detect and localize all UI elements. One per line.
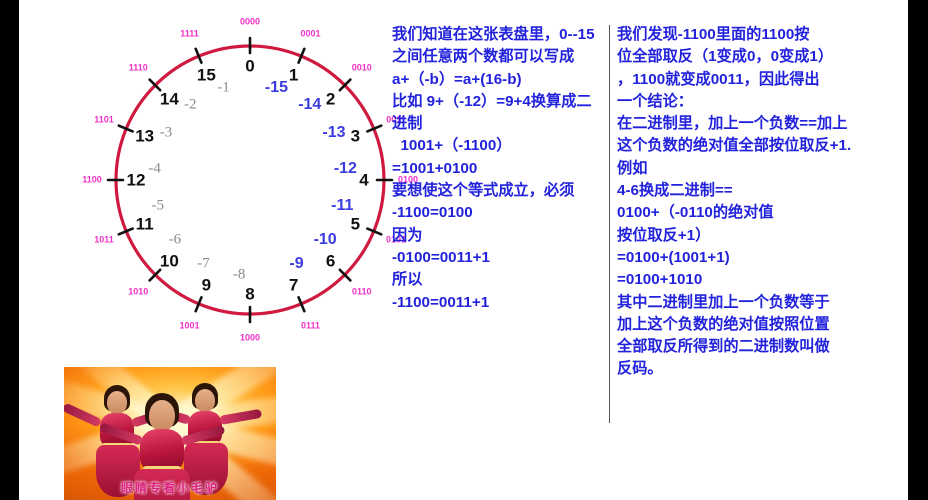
clock-positive-label: 10 xyxy=(160,252,179,269)
clock-binary-label: 0000 xyxy=(240,18,260,27)
text-line: 其中二进制里加上一个负数等于 xyxy=(617,292,862,314)
text-line: =1001+0100 xyxy=(392,158,610,180)
clock-negative-label: -15 xyxy=(265,80,288,96)
clock-positive-label: 1 xyxy=(289,66,298,83)
text-line: 例如 xyxy=(617,158,862,180)
text-line: 位全部取反（1变成0，0变成1） xyxy=(617,46,862,68)
text-line: 0100+（-0110的绝对值 xyxy=(617,202,862,224)
text-line: ，1100就变成0011，因此得出 xyxy=(617,69,862,91)
clock-positive-label: 7 xyxy=(289,277,298,294)
text-line: 所以 xyxy=(392,269,610,291)
text-line: -0100=0011+1 xyxy=(392,247,610,269)
clock-binary-label: 1110 xyxy=(129,64,148,73)
clock-negative-label: -13 xyxy=(322,125,345,141)
text-line: 一个结论： xyxy=(617,91,862,113)
explanation-column-right: 我们发现-1100里面的1100按位全部取反（1变成0，0变成1），1100就变… xyxy=(617,24,862,381)
tick-marks xyxy=(108,38,392,322)
clock-negative-label: -10 xyxy=(314,232,337,248)
text-line: 1001+（-1100） xyxy=(392,135,610,157)
clock-negative-label: -8 xyxy=(233,268,246,283)
clock-positive-label: 3 xyxy=(351,128,360,145)
text-line: 按位取反+1） xyxy=(617,225,862,247)
text-line: a+（-b）=a+(16-b) xyxy=(392,69,610,91)
presenter-video-thumbnail[interactable]: 眼睛专看小毛驴 xyxy=(64,367,276,500)
clock-positive-label: 11 xyxy=(136,215,154,232)
text-line: 进制 xyxy=(392,113,610,135)
text-line: 比如 9+（-12）=9+4换算成二 xyxy=(392,91,610,113)
text-line: =0100+1010 xyxy=(617,269,862,291)
clock-binary-label: 0001 xyxy=(300,30,320,39)
binary-clock-diagram: 000001-1500012-1400103-1300114-1201005-1… xyxy=(79,20,399,340)
clock-negative-label: -1 xyxy=(217,80,230,95)
clock-positive-label: 6 xyxy=(326,252,335,269)
text-line: 这个负数的绝对值全部按位取反+1. xyxy=(617,135,862,157)
text-line: 全部取反所得到的二进制数叫做 xyxy=(617,336,862,358)
clock-negative-label: -14 xyxy=(298,97,321,113)
text-line: -1100=0011+1 xyxy=(392,292,610,314)
clock-positive-label: 9 xyxy=(202,277,211,294)
explanation-column-left: 我们知道在这张表盘里，0--15之间任意两个数都可以写成a+（-b）=a+(16… xyxy=(392,24,610,314)
video-subtitle: 眼睛专看小毛驴 xyxy=(64,479,276,496)
text-line: 之间任意两个数都可以写成 xyxy=(392,46,610,68)
clock-negative-label: -9 xyxy=(289,256,303,272)
clock-negative-label: -6 xyxy=(169,232,182,247)
clock-positive-label: 8 xyxy=(245,286,254,303)
column-divider xyxy=(609,25,610,423)
clock-binary-label: 0010 xyxy=(352,64,372,73)
clock-positive-label: 15 xyxy=(197,66,216,83)
clock-binary-label: 0111 xyxy=(301,321,320,330)
clock-negative-label: -7 xyxy=(197,256,210,271)
clock-binary-label: 1111 xyxy=(180,30,199,39)
text-line: 加上这个负数的绝对值按照位置 xyxy=(617,314,862,336)
text-line: 我们知道在这张表盘里，0--15 xyxy=(392,24,610,46)
clock-negative-label: -2 xyxy=(184,97,197,112)
clock-binary-label: 1011 xyxy=(94,236,114,245)
clock-binary-label: 1001 xyxy=(180,321,200,330)
clock-binary-label: 0110 xyxy=(352,287,372,296)
slide-canvas: 000001-1500012-1400103-1300114-1201005-1… xyxy=(19,0,908,500)
text-line: =0100+(1001+1) xyxy=(617,247,862,269)
clock-positive-label: 0 xyxy=(245,58,254,75)
clock-binary-label: 1101 xyxy=(94,115,114,124)
clock-negative-label: -3 xyxy=(160,126,173,141)
clock-binary-label: 1010 xyxy=(128,287,148,296)
clock-negative-label: -12 xyxy=(334,161,357,177)
text-line: 因为 xyxy=(392,225,610,247)
clock-positive-label: 5 xyxy=(351,215,360,232)
text-line: -1100=0100 xyxy=(392,202,610,224)
text-line: 在二进制里，加上一个负数==加上 xyxy=(617,113,862,135)
clock-negative-label: -4 xyxy=(148,162,161,177)
clock-positive-label: 14 xyxy=(160,91,179,108)
clock-binary-label: 1100 xyxy=(82,176,102,185)
text-line: 4-6换成二进制== xyxy=(617,180,862,202)
clock-positive-label: 4 xyxy=(359,172,368,189)
clock-binary-label: 1000 xyxy=(240,334,260,343)
clock-positive-label: 13 xyxy=(135,128,154,145)
clock-negative-label: -5 xyxy=(151,199,164,214)
text-line: 我们发现-1100里面的1100按 xyxy=(617,24,862,46)
text-line: 要想使这个等式成立，必须 xyxy=(392,180,610,202)
clock-positive-label: 12 xyxy=(127,172,146,189)
clock-positive-label: 2 xyxy=(326,91,335,108)
clock-negative-label: -11 xyxy=(331,198,353,214)
text-line: 反码。 xyxy=(617,358,862,380)
